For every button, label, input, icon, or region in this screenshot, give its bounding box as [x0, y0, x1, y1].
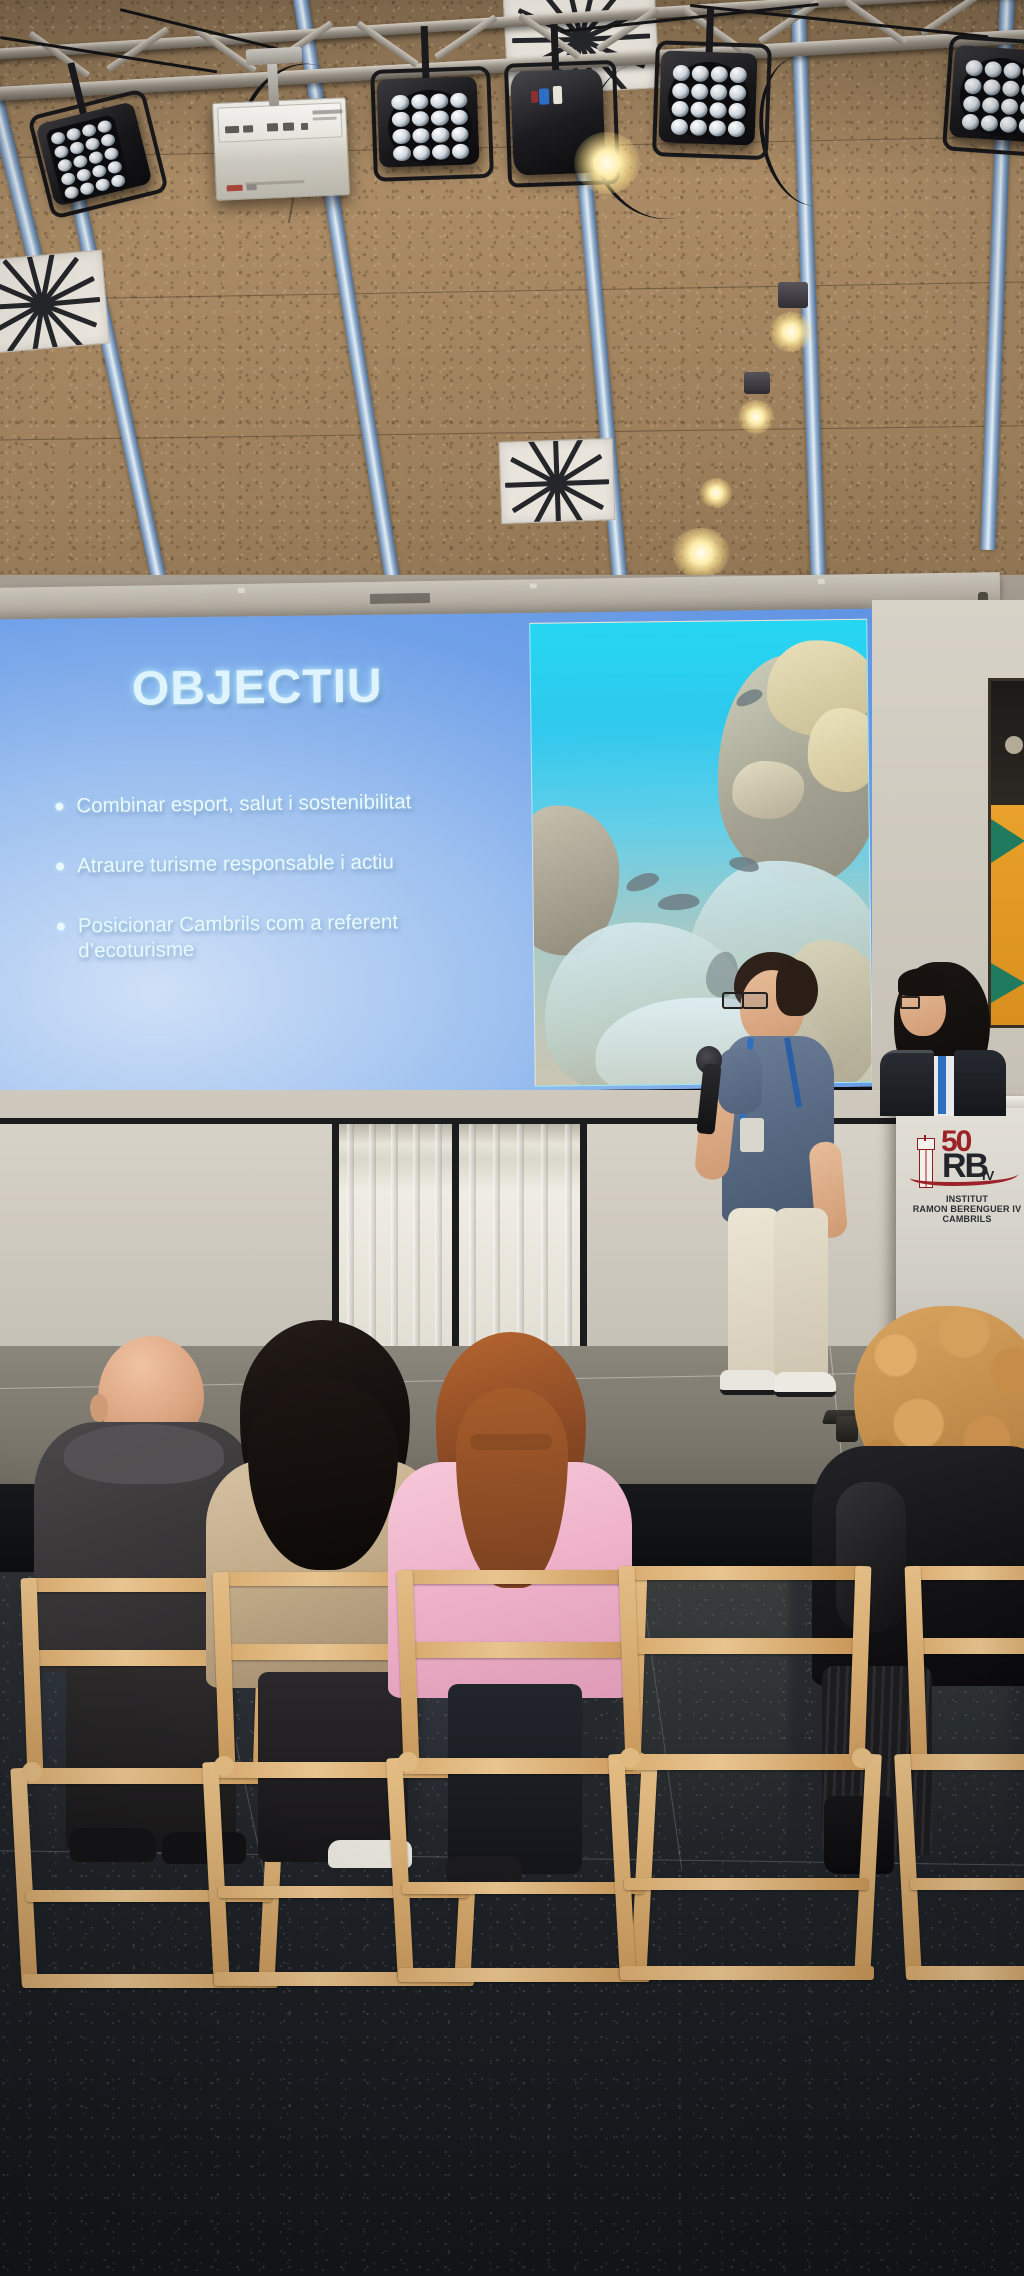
slide-title: OBJECTIU: [132, 659, 383, 717]
podium-logo: 50 RB IV INSTITUT RAMON BERENGUER IV CAM…: [908, 1128, 1024, 1224]
logo-line-3: CAMBRILS: [908, 1214, 1024, 1224]
ceiling-downlight: [700, 478, 732, 508]
slide-bullets: Combinar esport, salut i sostenibilitat …: [55, 788, 527, 965]
ceiling-downlight: [738, 400, 774, 434]
stage-light-glow: [574, 132, 640, 194]
hair-front: [898, 968, 948, 996]
list-item: Combinar esport, salut i sostenibilitat: [55, 788, 525, 820]
ceiling-downlight: [672, 528, 730, 578]
presentation-photo: OBJECTIU Combinar esport, salut i sosten…: [0, 0, 1024, 2276]
bullet-text: Posicionar Cambrils com a referent d’eco…: [78, 908, 469, 964]
puffer-vest: [954, 1050, 1006, 1116]
chair-4: [614, 1566, 876, 1986]
glasses-icon: [722, 992, 744, 1009]
led-par-can-far-right: [949, 45, 1024, 143]
list-item: Posicionar Cambrils com a referent d’eco…: [57, 908, 528, 965]
logo-mark: 50 RB IV: [908, 1128, 1024, 1190]
led-par-can-center: [376, 76, 479, 167]
bullet-text: Combinar esport, salut i sostenibilitat: [76, 789, 411, 819]
curtain-left: [339, 1124, 452, 1346]
bullet-text: Atraure turisme responsable i actiu: [77, 849, 394, 879]
hair-back: [776, 960, 818, 1016]
ceiling-vent: [0, 250, 110, 355]
glasses-icon: [900, 996, 920, 1009]
artwork-triangle: [991, 819, 1024, 863]
glasses-icon: [742, 992, 768, 1009]
logo-line-2: RAMON BERENGUER IV: [908, 1204, 1024, 1214]
curtain-right: [459, 1124, 580, 1346]
window-mullion: [332, 1118, 339, 1350]
co-presenter-at-podium: [876, 952, 1024, 1112]
bullet-dot: [55, 803, 63, 811]
shoe-left: [720, 1370, 778, 1395]
ceiling-projector: [212, 97, 350, 201]
puffer-vest: [880, 1050, 934, 1116]
chair-5-partial: [900, 1566, 1024, 1986]
bullet-dot: [57, 922, 65, 930]
lanyard: [938, 1056, 946, 1114]
arm-sleeve: [718, 1048, 762, 1114]
window-mullion: [452, 1118, 459, 1350]
led-par-can-right: [658, 50, 757, 145]
ceiling-vent: [499, 438, 616, 524]
bullet-dot: [56, 862, 64, 870]
hair-tie: [470, 1434, 552, 1450]
wall-panel-left: [0, 1124, 332, 1346]
leg-left: [728, 1208, 780, 1378]
logo-line-1: INSTITUT: [908, 1194, 1024, 1204]
list-item: Atraure turisme responsable i actiu: [56, 848, 526, 880]
led-par-can-left: [35, 101, 152, 207]
ear: [90, 1394, 108, 1422]
ceiling-downlight: [770, 312, 812, 352]
ceiling: [0, 0, 1024, 600]
window-mullion: [580, 1118, 587, 1350]
logo-swoosh: [910, 1166, 1018, 1186]
